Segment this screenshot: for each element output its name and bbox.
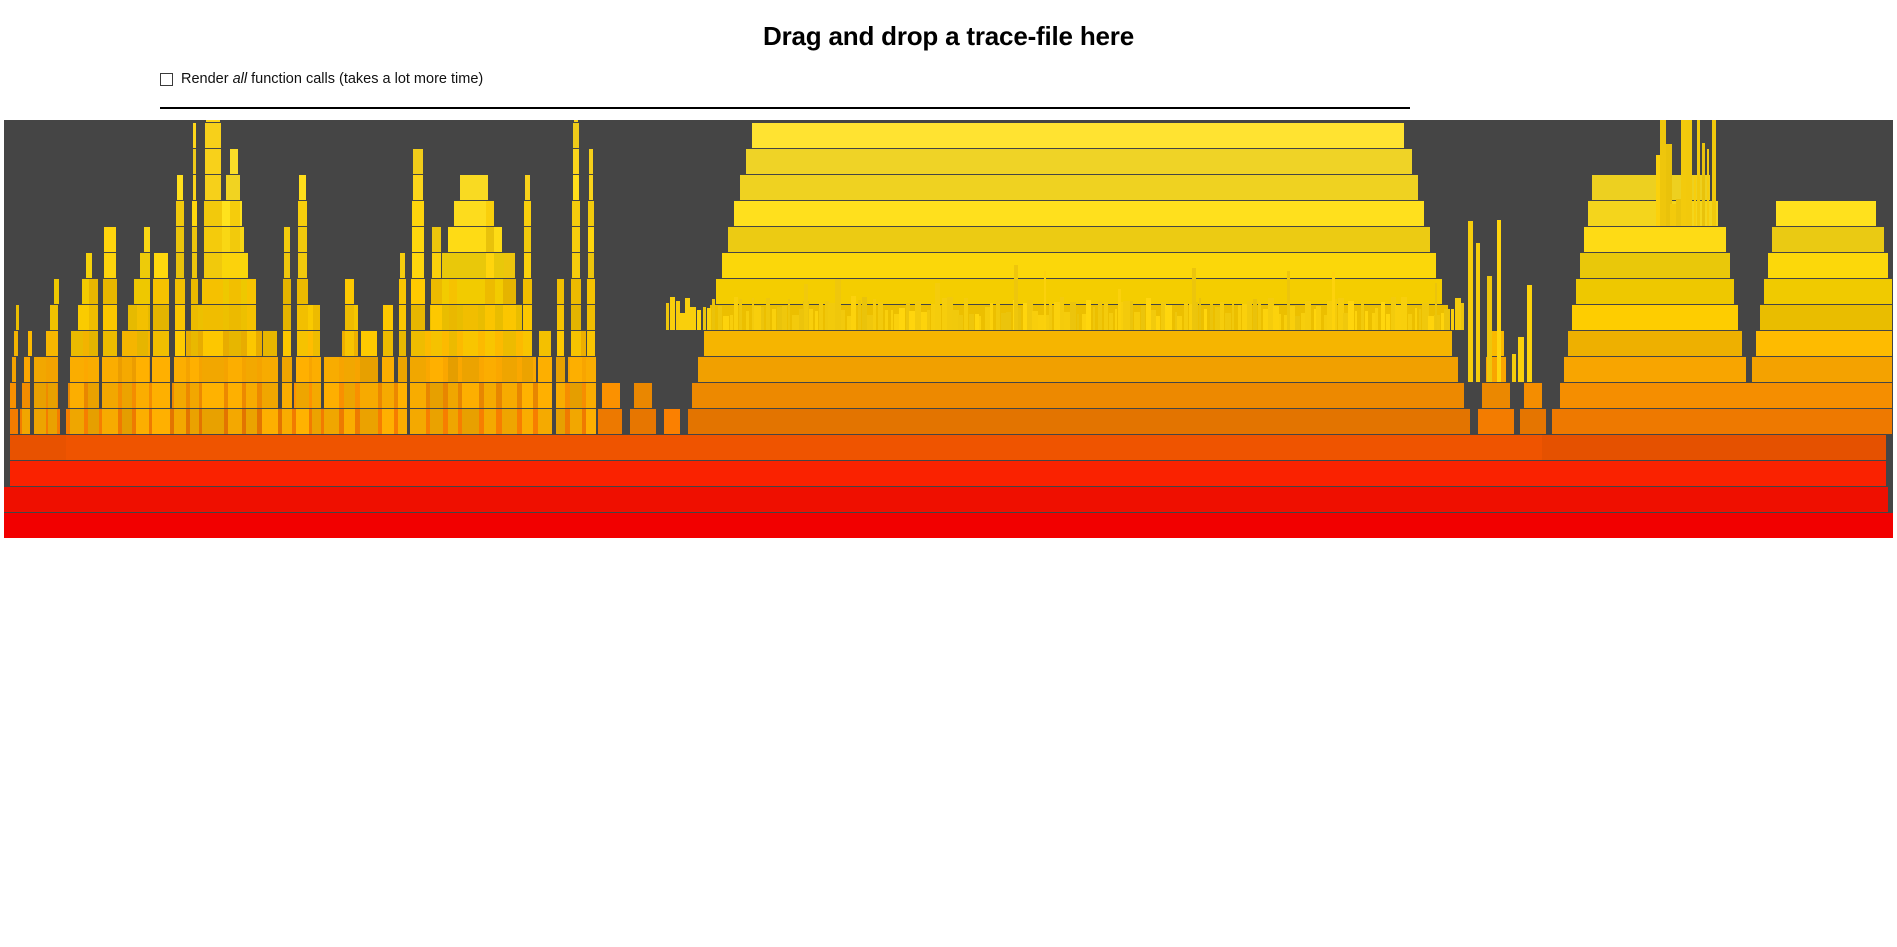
flamegraph-frame[interactable] [448, 383, 458, 408]
flamegraph-frame[interactable] [411, 279, 425, 304]
flamegraph-frame[interactable] [557, 279, 564, 304]
flamegraph-frame[interactable] [345, 305, 354, 330]
flamegraph-frame[interactable] [885, 310, 888, 330]
flamegraph-frame[interactable] [70, 383, 84, 408]
flamegraph-frame[interactable] [134, 279, 150, 304]
flamegraph-frame[interactable] [88, 409, 99, 434]
flamegraph-frame[interactable] [556, 357, 565, 382]
flamegraph-frame[interactable] [191, 305, 198, 330]
flamegraph-frame[interactable] [462, 357, 479, 382]
flamegraph-frame[interactable] [485, 305, 495, 330]
flamegraph-frame[interactable] [462, 409, 479, 434]
flamegraph-frame[interactable] [571, 279, 581, 304]
flamegraph-frame[interactable] [1712, 120, 1716, 226]
flamegraph-frame[interactable] [587, 331, 595, 356]
flamegraph-frame[interactable] [1232, 304, 1234, 330]
flamegraph-frame[interactable] [1104, 302, 1108, 330]
flamegraph-frame[interactable] [449, 305, 457, 330]
flamegraph-frame[interactable] [1776, 201, 1876, 226]
flamegraph-frame[interactable] [247, 305, 256, 330]
flamegraph-frame[interactable] [382, 383, 394, 408]
flamegraph-frame[interactable] [1365, 311, 1368, 330]
flamegraph-frame[interactable] [740, 175, 1418, 200]
flamegraph-frame[interactable] [589, 175, 593, 200]
flamegraph-frame[interactable] [718, 306, 722, 330]
flamegraph-frame[interactable] [204, 227, 222, 252]
flamegraph-frame[interactable] [312, 409, 321, 434]
flamegraph-frame[interactable] [1238, 305, 1241, 330]
flamegraph-frame[interactable] [296, 409, 309, 434]
flamegraph-frame[interactable] [1253, 299, 1257, 330]
flamegraph-frame[interactable] [754, 306, 761, 330]
flamegraph-frame[interactable] [296, 383, 309, 408]
flamegraph-frame[interactable] [1415, 308, 1417, 330]
flamegraph-frame[interactable] [12, 357, 16, 382]
flamegraph-frame[interactable] [449, 279, 457, 304]
flamegraph-frame[interactable] [89, 305, 98, 330]
flamegraph-frame[interactable] [324, 383, 339, 408]
flamegraph-frame[interactable] [572, 227, 580, 252]
flamegraph-frame[interactable] [1098, 301, 1102, 330]
flamegraph-frame[interactable] [484, 357, 496, 382]
flamegraph-frame[interactable] [1018, 308, 1021, 330]
flamegraph-frame[interactable] [262, 409, 278, 434]
flamegraph-frame[interactable] [22, 409, 30, 434]
flamegraph-frame[interactable] [734, 297, 738, 330]
flamegraph-frame[interactable] [48, 409, 57, 434]
flamegraph-frame[interactable] [176, 253, 184, 278]
flamegraph-frame[interactable] [324, 409, 339, 434]
flamegraph-frame[interactable] [1348, 301, 1354, 330]
flamegraph-frame[interactable] [88, 357, 99, 382]
flamegraph-frame[interactable] [398, 409, 407, 434]
flamegraph-frame[interactable] [86, 253, 92, 278]
render-all-function-calls-label[interactable]: Render all function calls (takes a lot m… [181, 71, 483, 87]
flamegraph-frame[interactable] [539, 331, 551, 356]
flamegraph-frame[interactable] [410, 383, 426, 408]
flamegraph-frame[interactable] [175, 305, 185, 330]
flamegraph-frame[interactable] [503, 305, 516, 330]
flamegraph-frame[interactable] [958, 315, 963, 330]
flamegraph-frame[interactable] [1287, 271, 1290, 330]
flamegraph-frame[interactable] [174, 383, 186, 408]
flamegraph-frame[interactable] [299, 175, 306, 200]
flamegraph-frame[interactable] [502, 357, 517, 382]
flamegraph-frame[interactable] [1258, 301, 1261, 330]
flamegraph-frame[interactable] [104, 227, 116, 252]
flamegraph-frame[interactable] [522, 383, 533, 408]
flamegraph-frame[interactable] [1199, 298, 1201, 330]
flamegraph-frame[interactable] [1375, 308, 1378, 330]
flamegraph-frame[interactable] [828, 303, 835, 330]
flamegraph-frame[interactable] [1305, 301, 1311, 330]
flamegraph-frame[interactable] [383, 331, 393, 356]
flamegraph-frame[interactable] [383, 305, 393, 330]
flamegraph-frame[interactable] [1210, 304, 1213, 330]
flamegraph-frame[interactable] [175, 331, 185, 356]
flamegraph-frame[interactable] [746, 149, 1412, 174]
flamegraph-frame[interactable] [412, 253, 424, 278]
flamegraph-frame[interactable] [399, 279, 406, 304]
flamegraph-frame[interactable] [1295, 316, 1300, 330]
flamegraph-frame[interactable] [1707, 149, 1709, 226]
flamegraph-frame[interactable] [360, 357, 378, 382]
flamegraph-frame[interactable] [588, 253, 594, 278]
flamegraph-frame[interactable] [104, 253, 116, 278]
flamegraph-frame[interactable] [1520, 409, 1546, 434]
flamegraph-frame[interactable] [246, 383, 257, 408]
flamegraph-frame[interactable] [504, 253, 515, 278]
flamegraph-frame[interactable] [573, 175, 579, 200]
flamegraph-frame[interactable] [571, 305, 581, 330]
flamegraph-frame[interactable] [1768, 253, 1888, 278]
flamegraph-frame[interactable] [206, 120, 220, 122]
flamegraph-frame[interactable] [360, 409, 378, 434]
flamegraph-frame[interactable] [175, 279, 185, 304]
flamegraph-frame[interactable] [1497, 220, 1501, 382]
flamegraph-frame[interactable] [412, 201, 424, 226]
flamegraph-frame[interactable] [228, 357, 242, 382]
flamegraph-frame[interactable] [34, 383, 46, 408]
flamegraph-frame[interactable] [1444, 309, 1450, 330]
flamegraph-frame[interactable] [205, 123, 221, 148]
flamegraph-frame[interactable] [102, 357, 118, 382]
flamegraph-frame[interactable] [503, 279, 516, 304]
flamegraph-frame[interactable] [1247, 301, 1252, 330]
flamegraph-frame[interactable] [484, 409, 496, 434]
flamegraph-frame[interactable] [990, 303, 993, 330]
flamegraph-frame[interactable] [202, 357, 224, 382]
flamegraph-frame[interactable] [1086, 300, 1091, 330]
flamegraph-frame[interactable] [4, 487, 1888, 512]
flamegraph-frame[interactable] [1552, 409, 1892, 434]
flamegraph-frame[interactable] [556, 383, 565, 408]
flamegraph-frame[interactable] [344, 383, 355, 408]
flamegraph-frame[interactable] [858, 300, 861, 330]
flamegraph-frame[interactable] [103, 305, 117, 330]
flamegraph-frame[interactable] [230, 149, 238, 174]
flamegraph-frame[interactable] [522, 409, 533, 434]
flamegraph-frame[interactable] [1461, 303, 1464, 330]
flamegraph-frame[interactable] [712, 299, 715, 330]
flamegraph-frame[interactable] [586, 357, 596, 382]
flamegraph-frame[interactable] [1408, 314, 1412, 330]
flamegraph-frame[interactable] [752, 123, 1404, 148]
flamegraph-frame[interactable] [523, 279, 532, 304]
flamegraph-frame[interactable] [448, 357, 458, 382]
flamegraph-frame[interactable] [485, 331, 495, 356]
flamegraph-frame[interactable] [122, 357, 132, 382]
flamegraph-frame[interactable] [1542, 435, 1886, 460]
flamegraph-frame[interactable] [1756, 331, 1892, 356]
flamegraph-frame[interactable] [692, 383, 1464, 408]
flamegraph-frame[interactable] [412, 227, 424, 252]
flamegraph-frame[interactable] [698, 357, 1458, 382]
flamegraph-frame[interactable] [449, 331, 457, 356]
flamegraph-frame[interactable] [556, 409, 565, 434]
flamegraph-frame[interactable] [1381, 302, 1385, 330]
flamegraph-frame[interactable] [1386, 314, 1390, 330]
flamegraph-frame[interactable] [140, 253, 150, 278]
flamegraph-frame[interactable] [153, 331, 169, 356]
flamegraph-frame[interactable] [523, 331, 532, 356]
flamegraph-frame[interactable] [442, 253, 508, 278]
flamegraph-frame[interactable] [193, 123, 196, 148]
flamegraph-canvas[interactable] [4, 120, 1893, 538]
flamegraph-frame[interactable] [572, 253, 580, 278]
flamegraph-frame[interactable] [172, 383, 276, 408]
flamegraph-frame[interactable] [228, 409, 242, 434]
flamegraph-frame[interactable] [570, 409, 582, 434]
flamegraph-frame[interactable] [399, 331, 406, 356]
flamegraph-frame[interactable] [1156, 316, 1160, 330]
flamegraph-frame[interactable] [630, 409, 656, 434]
flamegraph-frame[interactable] [1220, 302, 1224, 330]
flamegraph-frame[interactable] [1568, 331, 1742, 356]
flamegraph-frame[interactable] [202, 409, 224, 434]
flamegraph-frame[interactable] [524, 253, 531, 278]
flamegraph-frame[interactable] [400, 253, 405, 278]
flamegraph-frame[interactable] [297, 279, 308, 304]
flamegraph-frame[interactable] [230, 201, 240, 226]
flamegraph-frame[interactable] [1044, 271, 1046, 330]
flamegraph-frame[interactable] [203, 279, 223, 304]
flamegraph-frame[interactable] [202, 383, 224, 408]
flamegraph-frame[interactable] [14, 331, 18, 356]
flamegraph-frame[interactable] [136, 409, 149, 434]
flamegraph-frame[interactable] [10, 435, 66, 460]
flamegraph-frame[interactable] [431, 331, 442, 356]
flamegraph-frame[interactable] [282, 357, 292, 382]
flamegraph-frame[interactable] [102, 383, 118, 408]
flamegraph-frame[interactable] [71, 331, 83, 356]
flamegraph-frame[interactable] [152, 383, 170, 408]
flamegraph-frame[interactable] [103, 331, 117, 356]
flamegraph-frame[interactable] [152, 409, 170, 434]
flamegraph-frame[interactable] [46, 331, 58, 356]
flamegraph-frame[interactable] [413, 175, 423, 200]
flamegraph-frame[interactable] [1184, 303, 1188, 330]
flamegraph-frame[interactable] [24, 357, 30, 382]
flamegraph-frame[interactable] [587, 305, 595, 330]
flamegraph-frame[interactable] [670, 297, 675, 330]
flamegraph-frame[interactable] [283, 305, 291, 330]
flamegraph-frame[interactable] [448, 409, 458, 434]
flamegraph-frame[interactable] [1177, 316, 1182, 330]
flamegraph-frame[interactable] [1487, 276, 1492, 382]
flamegraph-frame[interactable] [190, 383, 199, 408]
flamegraph-frame[interactable] [174, 357, 186, 382]
flamegraph-frame[interactable] [573, 149, 579, 174]
flamegraph-frame[interactable] [570, 383, 582, 408]
flamegraph-frame[interactable] [174, 409, 186, 434]
flamegraph-frame[interactable] [410, 409, 426, 434]
flamegraph-frame[interactable] [538, 357, 552, 382]
render-all-function-calls-checkbox[interactable] [160, 73, 173, 86]
flamegraph-frame[interactable] [1760, 305, 1892, 330]
flamegraph-frame[interactable] [485, 279, 495, 304]
flamegraph-frame[interactable] [1482, 383, 1510, 408]
flamegraph-frame[interactable] [1165, 305, 1172, 330]
flamegraph-frame[interactable] [193, 149, 196, 174]
flamegraph-frame[interactable] [344, 409, 355, 434]
flamegraph-frame[interactable] [772, 309, 776, 330]
flamegraph-frame[interactable] [283, 331, 291, 356]
flamegraph-frame[interactable] [34, 357, 46, 382]
flamegraph-frame[interactable] [176, 201, 184, 226]
flamegraph-frame[interactable] [10, 409, 18, 434]
flamegraph-frame[interactable] [460, 175, 488, 200]
flamegraph-frame[interactable] [262, 357, 278, 382]
flamegraph-frame[interactable] [296, 357, 309, 382]
flamegraph-frame[interactable] [70, 409, 84, 434]
flamegraph-frame[interactable] [586, 383, 596, 408]
flamegraph-frame[interactable] [398, 383, 407, 408]
flamegraph-frame[interactable] [1192, 268, 1196, 330]
flamegraph-frame[interactable] [723, 316, 729, 330]
flamegraph-frame[interactable] [192, 253, 197, 278]
flamegraph-frame[interactable] [664, 409, 680, 434]
flamegraph-frame[interactable] [602, 383, 620, 408]
flamegraph-frame[interactable] [1014, 265, 1018, 330]
flamegraph-frame[interactable] [54, 279, 59, 304]
flamegraph-frame[interactable] [1118, 289, 1121, 330]
flamegraph-frame[interactable] [10, 461, 1886, 486]
flamegraph-frame[interactable] [666, 303, 669, 330]
flamegraph-frame[interactable] [809, 309, 813, 330]
flamegraph-frame[interactable] [1560, 383, 1892, 408]
flamegraph-frame[interactable] [979, 316, 981, 330]
flamegraph-frame[interactable] [523, 305, 532, 330]
flamegraph-frame[interactable] [588, 227, 594, 252]
flamegraph-frame[interactable] [1584, 227, 1726, 252]
flamegraph-frame[interactable] [486, 201, 494, 226]
flamegraph-frame[interactable] [1279, 314, 1281, 330]
flamegraph-frame[interactable] [1468, 221, 1473, 382]
flamegraph-frame[interactable] [70, 357, 84, 382]
flamegraph-frame[interactable] [298, 253, 307, 278]
flamegraph-frame[interactable] [502, 409, 517, 434]
flamegraph-frame[interactable] [587, 279, 595, 304]
flamegraph-frame[interactable] [283, 279, 291, 304]
flamegraph-frame[interactable] [734, 201, 1424, 226]
flamegraph-frame[interactable] [153, 305, 169, 330]
flamegraph-frame[interactable] [1518, 337, 1524, 382]
flamegraph-frame[interactable] [1686, 120, 1692, 226]
flamegraph-frame[interactable] [1204, 309, 1207, 330]
flamegraph-frame[interactable] [1580, 253, 1730, 278]
flamegraph-frame[interactable] [345, 331, 354, 356]
flamegraph-frame[interactable] [144, 227, 150, 252]
flamegraph-frame[interactable] [413, 149, 423, 174]
flamegraph-frame[interactable] [1451, 309, 1454, 330]
flamegraph-frame[interactable] [228, 383, 242, 408]
flamegraph-frame[interactable] [399, 305, 406, 330]
flamegraph-frame[interactable] [1478, 409, 1514, 434]
flamegraph-frame[interactable] [486, 227, 494, 252]
flamegraph-frame[interactable] [34, 409, 46, 434]
flamegraph-frame[interactable] [229, 305, 241, 330]
flamegraph-frame[interactable] [312, 357, 321, 382]
flamegraph-frame[interactable] [431, 279, 442, 304]
flamegraph-frame[interactable] [1316, 306, 1321, 330]
flamegraph-frame[interactable] [835, 279, 841, 330]
flamegraph-frame[interactable] [1435, 283, 1437, 330]
flamegraph-frame[interactable] [432, 253, 441, 278]
flamegraph-frame[interactable] [247, 279, 256, 304]
flamegraph-frame[interactable] [312, 383, 321, 408]
flamegraph-frame[interactable] [1093, 307, 1095, 330]
flamegraph-frame[interactable] [522, 357, 533, 382]
flamegraph-frame[interactable] [841, 310, 845, 330]
flamegraph-frame[interactable] [28, 331, 32, 356]
flamegraph-frame[interactable] [431, 305, 442, 330]
flamegraph-frame[interactable] [153, 279, 169, 304]
flamegraph-frame[interactable] [1476, 243, 1480, 382]
flamegraph-frame[interactable] [154, 253, 168, 278]
flamegraph-frame[interactable] [50, 305, 58, 330]
flamegraph-frame[interactable] [48, 383, 57, 408]
flamegraph-frame[interactable] [730, 315, 733, 330]
flamegraph-frame[interactable] [88, 383, 99, 408]
flamegraph-frame[interactable] [382, 409, 394, 434]
flamegraph-frame[interactable] [1512, 354, 1516, 382]
flamegraph-frame[interactable] [190, 357, 199, 382]
flamegraph-frame[interactable] [690, 307, 696, 330]
flamegraph-frame[interactable] [89, 331, 98, 356]
flamegraph-frame[interactable] [192, 201, 197, 226]
flamegraph-frame[interactable] [804, 284, 808, 330]
flamegraph-frame[interactable] [728, 227, 1430, 252]
flamegraph-frame[interactable] [263, 331, 277, 356]
flamegraph-frame[interactable] [746, 311, 749, 330]
flamegraph-frame[interactable] [284, 227, 290, 252]
flamegraph-frame[interactable] [205, 149, 221, 174]
flamegraph-frame[interactable] [503, 331, 516, 356]
flamegraph-frame[interactable] [4, 513, 1893, 538]
flamegraph-frame[interactable] [345, 279, 354, 304]
flamegraph-frame[interactable] [246, 357, 257, 382]
flamegraph-frame[interactable] [1772, 227, 1884, 252]
flamegraph-frame[interactable] [246, 409, 257, 434]
flamegraph-frame[interactable] [432, 227, 441, 252]
flamegraph-frame[interactable] [191, 331, 198, 356]
flamegraph-frame[interactable] [524, 201, 531, 226]
flamegraph-frame[interactable] [1527, 285, 1532, 382]
flamegraph-frame[interactable] [1361, 300, 1364, 330]
flamegraph-frame[interactable] [573, 123, 579, 148]
flamegraph-frame[interactable] [137, 331, 148, 356]
flamegraph-frame[interactable] [878, 302, 883, 330]
flamegraph-frame[interactable] [524, 227, 531, 252]
flamegraph-frame[interactable] [1006, 312, 1011, 330]
flamegraph-frame[interactable] [502, 383, 517, 408]
flamegraph-frame[interactable] [66, 435, 1542, 460]
flamegraph-frame[interactable] [557, 331, 564, 356]
flamegraph-frame[interactable] [229, 331, 241, 356]
flamegraph-frame[interactable] [10, 383, 16, 408]
flamegraph-frame[interactable] [203, 331, 223, 356]
flamegraph-frame[interactable] [191, 279, 198, 304]
flamegraph-frame[interactable] [230, 253, 240, 278]
flamegraph-frame[interactable] [247, 331, 256, 356]
flamegraph-frame[interactable] [344, 357, 355, 382]
flamegraph-frame[interactable] [588, 201, 594, 226]
flamegraph-frame[interactable] [398, 357, 407, 382]
flamegraph-frame[interactable] [572, 201, 580, 226]
flamegraph-frame[interactable] [298, 201, 307, 226]
flamegraph-frame[interactable] [137, 305, 148, 330]
